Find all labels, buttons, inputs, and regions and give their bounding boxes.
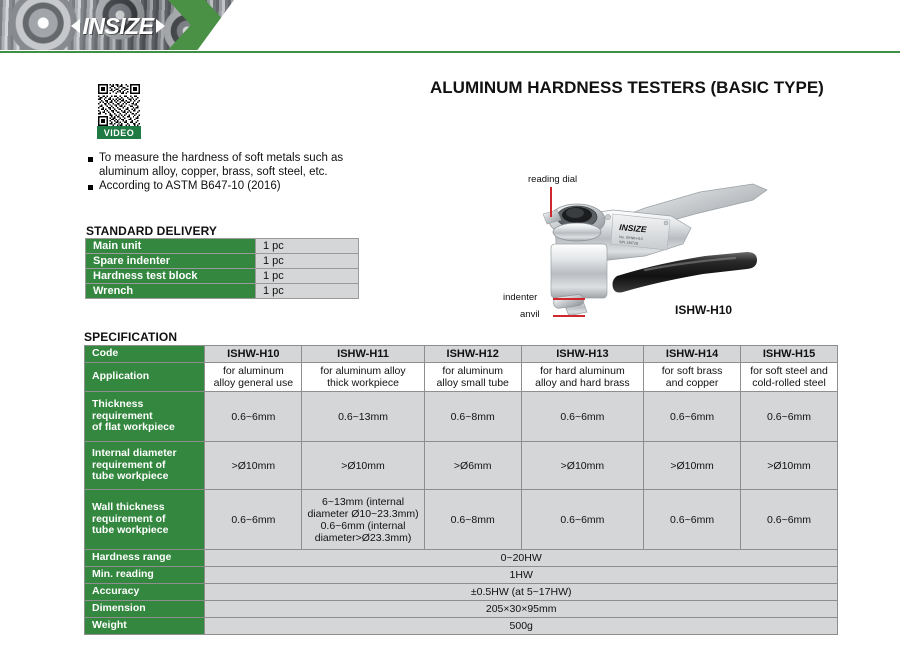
cell-wall-thickness: 6~13mm (internal diameter Ø10~23.3mm) 0.… <box>302 490 424 550</box>
delivery-item-label: Wrench <box>86 284 256 299</box>
product-photo: INSIZE No. ISHW-H10 S/N 130728 reading d… <box>495 170 895 330</box>
cell-line: 6~13mm (internal <box>304 496 421 508</box>
cell-line: for aluminum alloy <box>304 365 421 377</box>
row-label-code: Code <box>85 346 205 363</box>
delivery-item-label: Hardness test block <box>86 269 256 284</box>
row-label-accuracy: Accuracy <box>85 584 205 601</box>
callout-label-anvil: anvil <box>520 309 540 320</box>
arrow-right-icon <box>156 19 165 33</box>
cell-internal-diameter: >Ø10mm <box>741 442 838 490</box>
feature-text: To measure the hardness of soft metals s… <box>99 152 388 179</box>
cell-code: ISHW-H11 <box>302 346 424 363</box>
cell-accuracy: ±0.5HW (at 5~17HW) <box>205 584 838 601</box>
table-row-min-reading: Min. reading 1HW <box>85 567 838 584</box>
row-label-application: Application <box>85 363 205 392</box>
cell-line: 0.6~6mm (internal <box>304 520 421 532</box>
cell-thickness: 0.6~6mm <box>644 392 741 442</box>
row-label-wall-thickness: Wall thickness requirement of tube workp… <box>85 490 205 550</box>
table-row-wall-thickness: Wall thickness requirement of tube workp… <box>85 490 838 550</box>
row-label-thickness: Thickness requirement of flat workpiece <box>85 392 205 442</box>
table-row-hardness-range: Hardness range 0~20HW <box>85 550 838 567</box>
cell-internal-diameter: >Ø10mm <box>302 442 424 490</box>
callout-line-reading-dial <box>550 187 552 217</box>
video-qr-block[interactable]: VIDEO <box>97 84 141 139</box>
cell-wall-thickness: 0.6~8mm <box>424 490 521 550</box>
table-row-internal-diameter: Internal diameter requirement of tube wo… <box>85 442 838 490</box>
cell-internal-diameter: >Ø10mm <box>644 442 741 490</box>
cell-wall-thickness: 0.6~6mm <box>741 490 838 550</box>
callout-label-indenter: indenter <box>503 292 537 303</box>
cell-line: for aluminum <box>427 365 519 377</box>
list-item: To measure the hardness of soft metals s… <box>88 152 388 179</box>
cell-wall-thickness: 0.6~6mm <box>644 490 741 550</box>
cell-line: for aluminum <box>207 365 299 377</box>
cell-application: for soft steel and cold-rolled steel <box>741 363 838 392</box>
video-badge[interactable]: VIDEO <box>97 126 141 139</box>
cell-line: cold-rolled steel <box>743 377 835 389</box>
page-header-banner: INSIZE <box>0 0 900 52</box>
cell-thickness: 0.6~13mm <box>302 392 424 442</box>
cell-code: ISHW-H14 <box>644 346 741 363</box>
list-item: According to ASTM B647-10 (2016) <box>88 180 388 194</box>
delivery-item-qty: 1 pc <box>256 239 359 254</box>
cell-line: alloy general use <box>207 377 299 389</box>
header-rule <box>0 51 900 53</box>
standard-delivery-table: Main unit 1 pc Spare indenter 1 pc Hardn… <box>85 238 359 299</box>
cell-internal-diameter: >Ø6mm <box>424 442 521 490</box>
cell-line: alloy and hard brass <box>524 377 641 389</box>
cell-application: for aluminum alloy small tube <box>424 363 521 392</box>
cell-line: alloy small tube <box>427 377 519 389</box>
delivery-item-label: Main unit <box>86 239 256 254</box>
cell-line: for soft brass <box>646 365 738 377</box>
row-label-hardness-range: Hardness range <box>85 550 205 567</box>
feature-list: To measure the hardness of soft metals s… <box>88 152 388 195</box>
page-title: ALUMINUM HARDNESS TESTERS (BASIC TYPE) <box>430 78 824 98</box>
specification-table: Code ISHW-H10 ISHW-H11 ISHW-H12 ISHW-H13… <box>84 345 838 635</box>
delivery-item-qty: 1 pc <box>256 254 359 269</box>
cell-application: for aluminum alloy general use <box>205 363 302 392</box>
table-row-application: Application for aluminum alloy general u… <box>85 363 838 392</box>
cell-line: and copper <box>646 377 738 389</box>
cell-line: diameter Ø10~23.3mm) <box>304 508 421 520</box>
row-label-min-reading: Min. reading <box>85 567 205 584</box>
label-line: tube workpiece <box>92 525 202 537</box>
cell-thickness: 0.6~6mm <box>205 392 302 442</box>
delivery-item-qty: 1 pc <box>256 284 359 299</box>
bullet-square-icon <box>88 185 93 190</box>
label-line: of flat workpiece <box>92 422 202 434</box>
cell-weight: 500g <box>205 618 838 635</box>
table-row: Wrench 1 pc <box>86 284 359 299</box>
cell-hardness-range: 0~20HW <box>205 550 838 567</box>
callout-line-anvil <box>553 315 585 317</box>
cell-line: diameter>Ø23.3mm) <box>304 532 421 544</box>
feature-text: According to ASTM B647-10 (2016) <box>99 180 281 194</box>
table-row: Spare indenter 1 pc <box>86 254 359 269</box>
cell-code: ISHW-H15 <box>741 346 838 363</box>
row-label-dimension: Dimension <box>85 601 205 618</box>
cell-thickness: 0.6~6mm <box>741 392 838 442</box>
table-row-accuracy: Accuracy ±0.5HW (at 5~17HW) <box>85 584 838 601</box>
cell-line: for hard aluminum <box>524 365 641 377</box>
table-row-dimension: Dimension 205×30×95mm <box>85 601 838 618</box>
standard-delivery-title: STANDARD DELIVERY <box>86 224 217 238</box>
table-row-weight: Weight 500g <box>85 618 838 635</box>
table-row: Hardness test block 1 pc <box>86 269 359 284</box>
product-caption: ISHW-H10 <box>675 303 732 317</box>
row-label-internal-diameter: Internal diameter requirement of tube wo… <box>85 442 205 490</box>
table-row: Main unit 1 pc <box>86 239 359 254</box>
delivery-item-label: Spare indenter <box>86 254 256 269</box>
cell-dimension: 205×30×95mm <box>205 601 838 618</box>
row-label-weight: Weight <box>85 618 205 635</box>
table-row-code: Code ISHW-H10 ISHW-H11 ISHW-H12 ISHW-H13… <box>85 346 838 363</box>
specification-title: SPECIFICATION <box>84 330 177 344</box>
cell-min-reading: 1HW <box>205 567 838 584</box>
insize-logo: INSIZE <box>38 12 198 40</box>
cell-code: ISHW-H13 <box>521 346 643 363</box>
cell-internal-diameter: >Ø10mm <box>521 442 643 490</box>
cell-line: for soft steel and <box>743 365 835 377</box>
table-row-thickness: Thickness requirement of flat workpiece … <box>85 392 838 442</box>
cell-application: for hard aluminum alloy and hard brass <box>521 363 643 392</box>
cell-line: thick workpiece <box>304 377 421 389</box>
cell-application: for soft brass and copper <box>644 363 741 392</box>
callout-label-reading-dial: reading dial <box>528 174 577 185</box>
label-line: tube workpiece <box>92 471 202 483</box>
cell-thickness: 0.6~6mm <box>521 392 643 442</box>
cell-wall-thickness: 0.6~6mm <box>205 490 302 550</box>
callout-line-indenter <box>553 298 585 300</box>
cell-thickness: 0.6~8mm <box>424 392 521 442</box>
cell-code: ISHW-H12 <box>424 346 521 363</box>
arrow-left-icon <box>71 19 80 33</box>
cell-code: ISHW-H10 <box>205 346 302 363</box>
brand-name: INSIZE <box>82 13 153 40</box>
cell-application: for aluminum alloy thick workpiece <box>302 363 424 392</box>
delivery-item-qty: 1 pc <box>256 269 359 284</box>
qr-code-icon <box>97 84 141 126</box>
bullet-square-icon <box>88 157 93 162</box>
cell-internal-diameter: >Ø10mm <box>205 442 302 490</box>
cell-wall-thickness: 0.6~6mm <box>521 490 643 550</box>
